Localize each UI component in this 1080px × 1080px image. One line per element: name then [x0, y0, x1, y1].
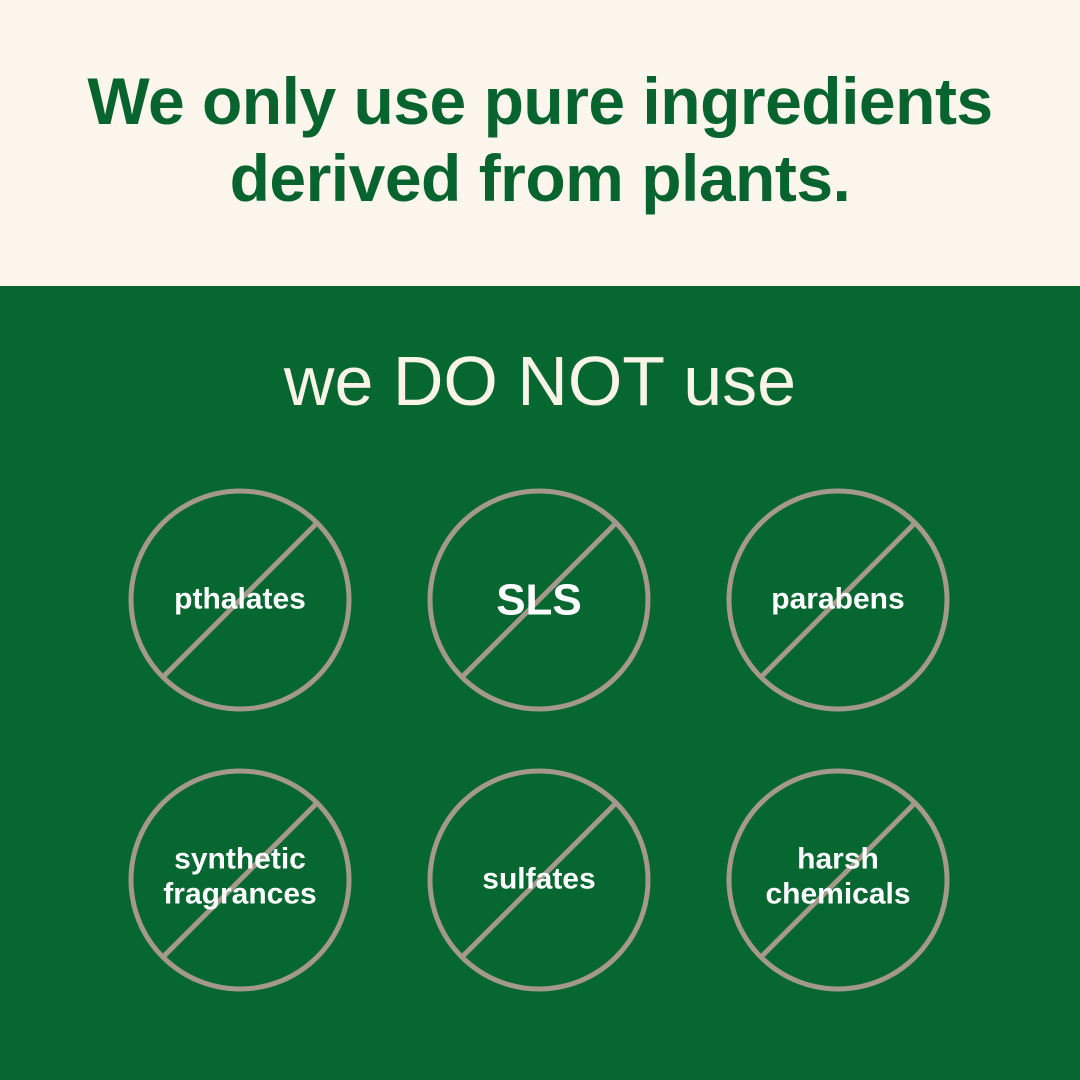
- headline-band: We only use pure ingredients derived fro…: [0, 0, 1080, 286]
- badge-sls: SLS: [427, 488, 651, 712]
- badge-label: harsh chemicals: [726, 842, 950, 912]
- do-not-use-section: we DO NOT use pthalates SLS: [0, 286, 1080, 1080]
- section-heading: we DO NOT use: [0, 346, 1080, 416]
- badge-parabens: parabens: [726, 488, 950, 712]
- excluded-ingredients-grid: pthalates SLS parabens: [128, 488, 952, 992]
- badge-synthetic-fragrances: synthetic fragrances: [128, 768, 352, 992]
- badge-pthalates: pthalates: [128, 488, 352, 712]
- badge-label: pthalates: [128, 583, 352, 618]
- badge-harsh-chemicals: harsh chemicals: [726, 768, 950, 992]
- badge-label: SLS: [427, 574, 651, 625]
- badge-label: parabens: [726, 583, 950, 618]
- page-title: We only use pure ingredients derived fro…: [60, 63, 1020, 217]
- badge-label: synthetic fragrances: [128, 842, 352, 912]
- badge-sulfates: sulfates: [427, 768, 651, 992]
- poster-canvas: We only use pure ingredients derived fro…: [0, 0, 1080, 1080]
- badge-label: sulfates: [427, 863, 651, 898]
